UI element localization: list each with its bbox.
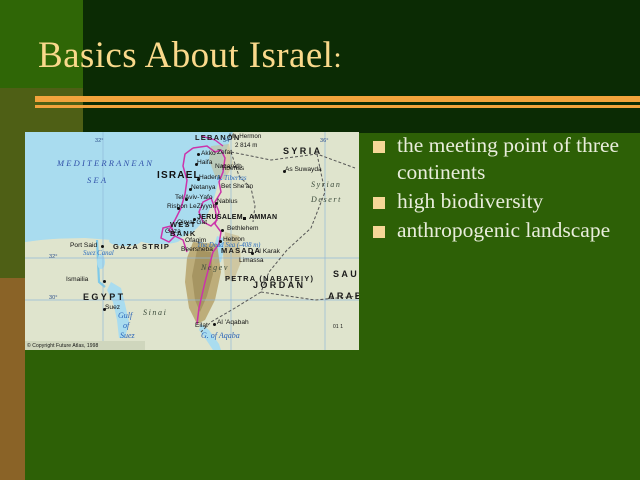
slide-title: Basics About Israel:: [38, 33, 342, 81]
list-item-label: high biodiversity: [397, 188, 543, 215]
map-city-marker: [219, 240, 222, 243]
slide: Basics About Israel: the meeting point o…: [0, 0, 640, 480]
divider-rule-thin: [35, 105, 640, 108]
square-bullet-icon: [373, 226, 385, 238]
sidebar-strip-green: [0, 0, 25, 88]
list-item-label: anthropogenic landscape: [397, 217, 610, 244]
map-geography: [25, 132, 359, 350]
map-copyright-bar: [25, 341, 145, 350]
slide-title-colon: :: [333, 41, 342, 74]
sidebar-strip-brown: [0, 278, 25, 480]
list-item: anthropogenic landscape: [373, 217, 631, 244]
square-bullet-icon: [373, 197, 385, 209]
list-item: the meeting point of three continents: [373, 132, 631, 186]
map-city-marker: [185, 198, 188, 201]
map-city-marker: [213, 323, 216, 326]
map-city-marker: [189, 188, 192, 191]
map-city-marker: [197, 153, 200, 156]
map-city-marker: [195, 163, 198, 166]
map-city-marker: [193, 218, 196, 221]
square-bullet-icon: [373, 141, 385, 153]
map-city-marker: [177, 207, 180, 210]
bullet-list: the meeting point of three continents hi…: [373, 132, 631, 246]
slide-title-text: Basics About Israel: [38, 35, 333, 76]
sidebar-strip-olive: [0, 88, 25, 278]
map-image: MEDITERRANEAN SEA LEBANON SYRIA ISRAEL J…: [25, 132, 359, 350]
map-city-marker: [283, 170, 286, 173]
list-item-label: the meeting point of three continents: [397, 132, 631, 186]
map-city-marker: [221, 229, 224, 232]
map-city-marker: [197, 178, 200, 181]
map-city-marker: [251, 252, 254, 255]
map-city-marker: [215, 202, 218, 205]
divider-rule-thick: [35, 96, 640, 102]
map-city-marker: [103, 280, 106, 283]
list-item: high biodiversity: [373, 188, 631, 215]
map-capital-marker: [243, 217, 246, 220]
map-city-marker: [101, 245, 104, 248]
map-city-marker: [103, 308, 106, 311]
